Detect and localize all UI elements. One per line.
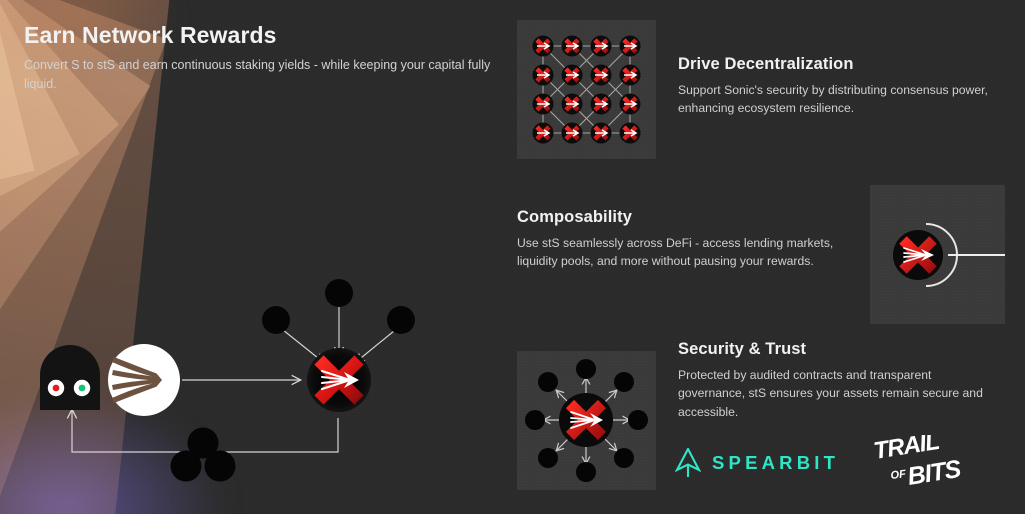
validator-node-dot: [387, 306, 415, 334]
feature-title: Drive Decentralization: [678, 55, 990, 75]
feature-thumbnail-decentralization: [517, 20, 656, 159]
feature-list: Drive Decentralization Support Sonic's s…: [505, 0, 1025, 514]
spearbit-logo: SPEARBIT: [675, 448, 839, 478]
three-dot-cluster-icon: [171, 428, 236, 482]
spearbit-logo-icon: [675, 448, 701, 478]
feature-thumbnail-composability: [870, 185, 1005, 324]
ghost-wallet-icon: [40, 345, 100, 410]
svg-text:OF: OF: [890, 468, 907, 482]
feature-text-decentralization: Drive Decentralization Support Sonic's s…: [678, 55, 990, 118]
page-title: Earn Network Rewards: [24, 22, 514, 49]
feature-text-security: Security & Trust Protected by audited co…: [678, 340, 986, 421]
sts-token-icon: [559, 393, 613, 447]
flow-line-hub-to-pool: [235, 418, 338, 452]
trail-of-bits-logo-icon: TRAIL OF BITS: [873, 435, 969, 491]
sts-token-icon: [893, 230, 943, 280]
feature-body: Support Sonic's security by distributing…: [678, 81, 990, 118]
feature-body: Protected by audited contracts and trans…: [678, 366, 986, 422]
feature-thumbnail-security: [517, 351, 656, 490]
audit-logos: SPEARBIT TRAIL OF BITS: [675, 435, 969, 491]
flow-arrow-node-to-hub: [356, 331, 394, 362]
hero-text-block: Earn Network Rewards Convert S to stS an…: [24, 22, 514, 93]
feature-body: Use stS seamlessly across DeFi - access …: [517, 234, 835, 271]
sts-token-icon: [307, 348, 371, 412]
feature-title: Composability: [517, 208, 835, 228]
feature-text-composability: Composability Use stS seamlessly across …: [517, 208, 835, 271]
svg-text:BITS: BITS: [906, 455, 964, 491]
validator-node-dot: [262, 306, 290, 334]
rewards-feature-banner: Earn Network Rewards Convert S to stS an…: [0, 0, 1025, 514]
validator-node-dot: [325, 279, 353, 307]
feature-title: Security & Trust: [678, 340, 986, 360]
spearbit-wordmark: SPEARBIT: [712, 452, 839, 474]
page-subtitle: Convert S to stS and earn continuous sta…: [24, 56, 514, 93]
